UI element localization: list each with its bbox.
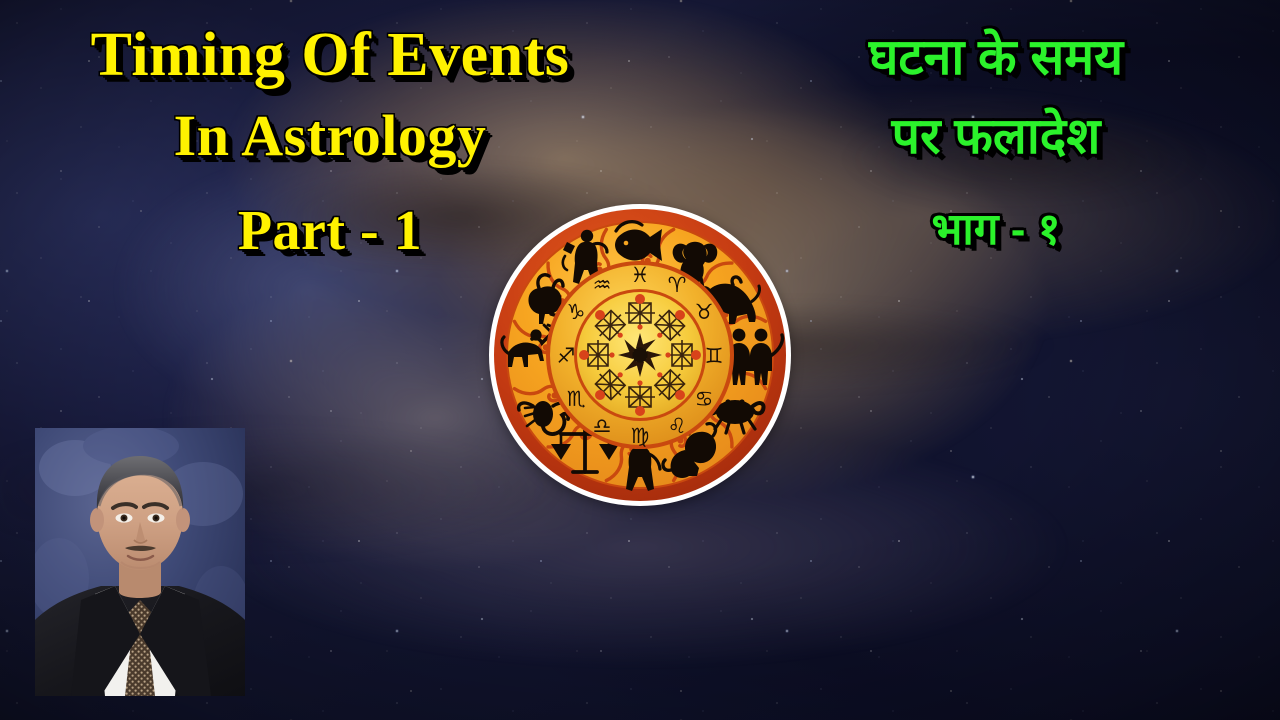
- mandala-sun: [609, 324, 670, 385]
- glyph-libra: ♎: [593, 414, 612, 438]
- presenter-photo: [35, 428, 245, 696]
- title-hindi: घटना के समय पर फलादेश भाग - १: [736, 24, 1256, 278]
- glyph-aries: ♈: [668, 273, 687, 297]
- glyph-cancer: ♋: [695, 387, 714, 411]
- title-hindi-line-2: पर फलादेश: [736, 90, 1256, 182]
- glyph-taurus: ♉: [695, 300, 714, 324]
- video-thumbnail: Timing Of Events In Astrology Part - 1 घ…: [0, 0, 1280, 720]
- title-english-line-3: Part - 1: [0, 180, 660, 282]
- glyph-capricorn: ♑: [567, 300, 586, 324]
- glyph-virgo: ♍: [631, 424, 650, 448]
- glyph-scorpio: ♏: [567, 387, 586, 411]
- glyph-sagittarius: ♐: [557, 344, 576, 368]
- title-english-line-1: Timing Of Events: [0, 18, 660, 92]
- title-hindi-line-1: घटना के समय: [736, 24, 1256, 90]
- title-english-line-2: In Astrology: [0, 92, 660, 180]
- wheel-center-mandala: [574, 289, 706, 421]
- title-english: Timing Of Events In Astrology Part - 1: [0, 18, 660, 282]
- glyph-gemini: ♊: [705, 344, 724, 368]
- title-hindi-line-3: भाग - १: [736, 182, 1256, 278]
- glyph-leo: ♌: [668, 414, 687, 438]
